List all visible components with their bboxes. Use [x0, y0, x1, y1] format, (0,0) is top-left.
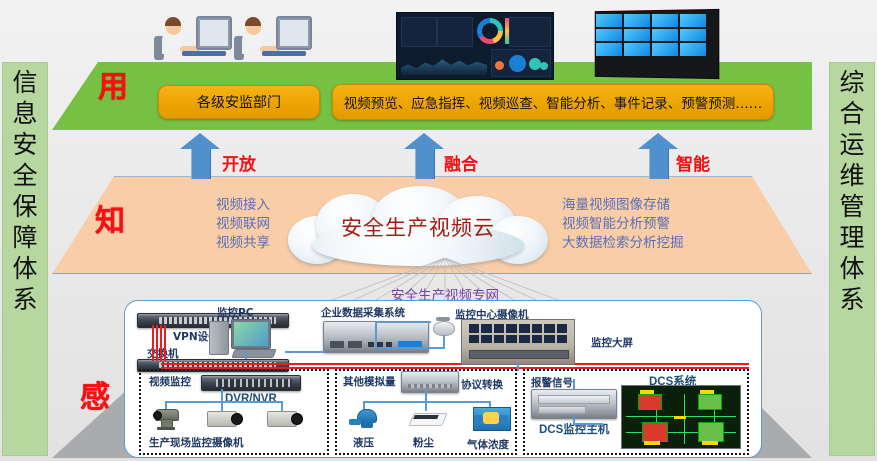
control-room-photo	[461, 319, 575, 365]
protocol-converter-icon	[401, 371, 459, 393]
pillar-right-char-3: 维	[839, 160, 864, 191]
caption-field-cameras: 生产现场监控摄像机	[149, 435, 244, 450]
pillar-operations-management: 综 合 运 维 管 理 体 系	[829, 62, 875, 456]
caption-big-screen: 监控大屏	[591, 335, 633, 350]
pillar-right-char-6: 体	[839, 253, 864, 284]
pillar-right-char-0: 综	[839, 67, 864, 98]
link-line	[573, 423, 603, 425]
platform-right-item-2: 大数据检索分析挖掘	[562, 234, 782, 253]
dvr-nvr-icon	[201, 375, 301, 391]
link-line	[375, 321, 431, 323]
layer-letter-platform: 知	[95, 196, 125, 240]
cloud-label: 安全生产视频云	[288, 212, 548, 242]
video-wall-photo	[592, 10, 718, 78]
bullet-camera-icon-2	[267, 411, 303, 427]
link-line	[517, 363, 519, 371]
layer-letter-application: 用	[98, 62, 128, 106]
caption-sensor-gas: 气体浓度	[467, 437, 509, 452]
pillar-left-char-4: 保	[12, 191, 37, 222]
platform-left-item-2: 视频共享	[130, 234, 270, 253]
link-line	[281, 401, 283, 411]
pillar-right-char-2: 运	[839, 129, 864, 160]
link-line	[285, 351, 325, 353]
platform-right-capabilities: 海量视频图像存储 视频智能分析预警 大数据检索分析挖掘	[562, 196, 782, 253]
up-arrow-icon-open	[180, 133, 220, 179]
caption-alarm-signal: 报警信号	[531, 375, 573, 390]
bus-link	[164, 325, 166, 361]
diagram-canvas: 信 息 安 全 保 障 体 系 综 合 运 维 管 理 体 系	[0, 0, 877, 461]
pillar-left-char-1: 息	[12, 98, 37, 129]
platform-left-capabilities: 视频接入 视频联网 视频共享	[130, 196, 270, 253]
pillar-right-char-4: 管	[839, 191, 864, 222]
analytics-dashboard-screenshot	[396, 12, 554, 80]
hydraulic-sensor-icon	[349, 409, 383, 429]
platform-left-item-0: 视频接入	[130, 196, 270, 215]
platform-right-item-0: 海量视频图像存储	[562, 196, 782, 215]
red-bus-main	[161, 363, 749, 365]
caption-video-surveillance: 视频监控	[149, 374, 191, 389]
gas-sensor-icon	[473, 407, 509, 429]
pillar-information-security: 信 息 安 全 保 障 体 系	[2, 62, 48, 456]
pillar-left-char-2: 安	[12, 129, 37, 160]
bus-link	[156, 325, 158, 361]
pillar-left-char-0: 信	[12, 67, 37, 98]
caption-data-collection: 企业数据采集系统	[321, 305, 405, 320]
link-line	[165, 401, 283, 403]
bus-link	[160, 325, 162, 361]
link-line	[375, 347, 445, 349]
link-line	[221, 401, 223, 411]
bullet-camera-icon-1	[207, 411, 243, 427]
pillar-left-char-3: 全	[12, 160, 37, 191]
ptz-camera-icon	[151, 409, 183, 431]
link-line	[375, 321, 377, 349]
link-line	[573, 379, 575, 389]
people-at-computers-illustration	[152, 6, 312, 66]
caption-protocol-converter: 协议转换	[461, 377, 503, 392]
caption-sensor-hydraulic: 液压	[353, 435, 374, 450]
pillar-left-char-7: 系	[12, 284, 37, 315]
pillar-right-char-5: 理	[839, 222, 864, 253]
pillar-left-char-6: 体	[12, 253, 37, 284]
layer-letter-perception: 感	[80, 372, 110, 416]
arrow-label-fusion: 融合	[444, 150, 478, 175]
arrow-label-open: 开放	[222, 150, 256, 175]
dcs-schematic-photo	[621, 385, 741, 449]
dome-camera-icon	[431, 317, 455, 335]
pillar-right-char-7: 系	[839, 284, 864, 315]
dust-sensor-icon	[411, 413, 445, 427]
link-line	[245, 351, 247, 359]
perception-panel: VPN设备 交换机 监控PC 企业数据采集系统	[124, 300, 762, 458]
caption-monitor-pc: 监控PC	[217, 305, 253, 320]
app-box-departments[interactable]: 各级安监部门	[158, 85, 320, 119]
pillar-left-char-5: 障	[12, 222, 37, 253]
app-box-functions[interactable]: 视频预览、应急指挥、视频巡查、智能分析、事件记录、预警预测……	[332, 84, 774, 120]
caption-analog-signals: 其他模拟量	[343, 374, 396, 389]
up-arrow-icon-smart	[638, 133, 678, 179]
pillar-right-char-1: 合	[839, 98, 864, 129]
arrow-label-smart: 智能	[676, 150, 710, 175]
caption-dvr-nvr: DVR/NVR	[225, 393, 277, 405]
platform-right-item-1: 视频智能分析预警	[562, 215, 782, 234]
bus-link	[152, 325, 154, 361]
up-arrow-icon-fusion	[404, 133, 444, 179]
link-line	[363, 401, 491, 403]
link-line	[425, 401, 427, 411]
caption-sensor-dust: 粉尘	[413, 435, 434, 450]
platform-left-item-1: 视频联网	[130, 215, 270, 234]
